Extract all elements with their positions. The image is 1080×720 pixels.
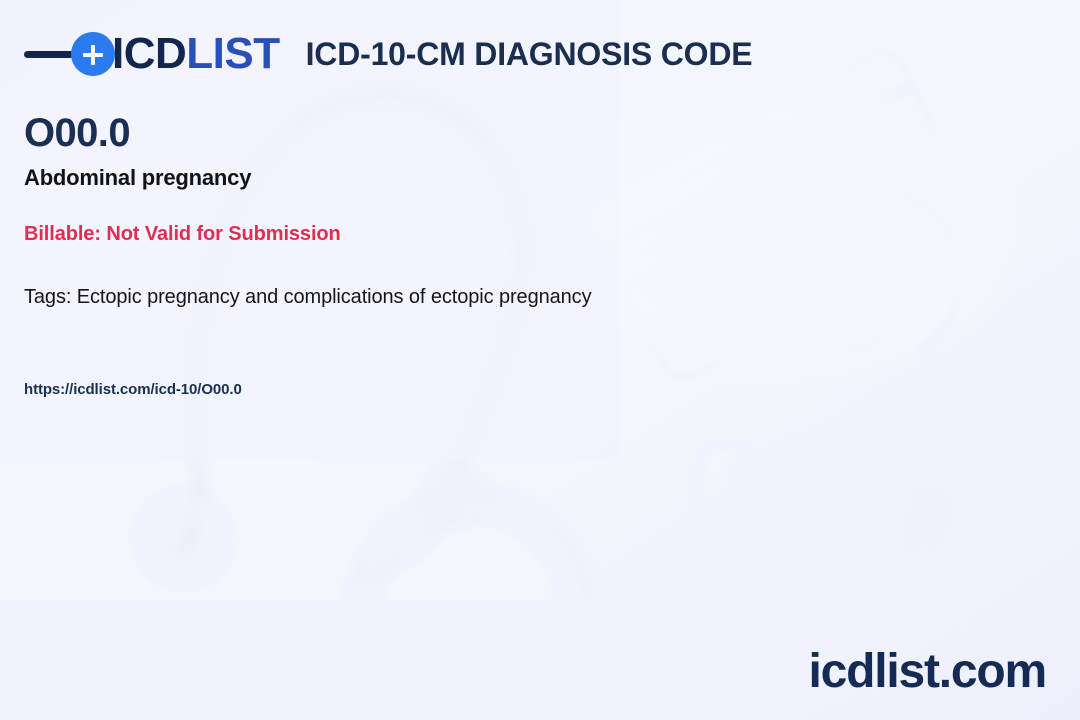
source-url-link[interactable]: https://icdlist.com/icd-10/O00.0 bbox=[24, 382, 242, 399]
logo-word-icd: ICD bbox=[112, 29, 186, 78]
billable-status-badge: Billable: Not Valid for Submission bbox=[24, 223, 341, 245]
plus-circle-icon bbox=[71, 32, 115, 76]
footer-brand: icdlist.com bbox=[808, 648, 1046, 696]
header: ICDLIST ICD-10-CM DIAGNOSIS CODE bbox=[24, 24, 752, 84]
tags-line: Tags: Ectopic pregnancy and complication… bbox=[24, 286, 591, 308]
icdlist-logo[interactable]: ICDLIST bbox=[24, 26, 280, 82]
icd-code-card: ICDLIST ICD-10-CM DIAGNOSIS CODE O00.0 A… bbox=[0, 0, 1080, 720]
background-artwork bbox=[0, 0, 1080, 720]
logo-dash-icon bbox=[24, 51, 74, 58]
icd-code-description: Abdominal pregnancy bbox=[24, 166, 251, 190]
page-title: ICD-10-CM DIAGNOSIS CODE bbox=[306, 36, 753, 73]
logo-word-list: LIST bbox=[186, 29, 279, 78]
icd-code-value: O00.0 bbox=[24, 113, 130, 153]
